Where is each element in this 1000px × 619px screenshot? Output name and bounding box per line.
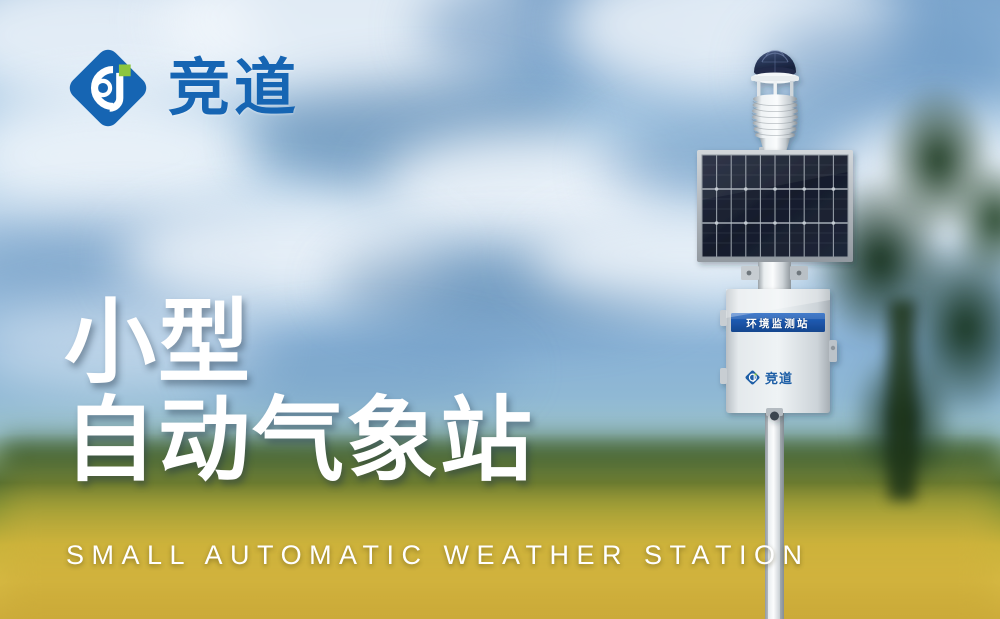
hero-title: 小型 自动气象站 — [64, 296, 534, 488]
jingdao-diamond-logo-icon — [744, 369, 761, 386]
jingdao-diamond-logo-icon — [66, 46, 150, 130]
brand-wordmark: 竞道 — [168, 57, 300, 119]
control-box-brand-wordmark: 竞道 — [765, 368, 793, 387]
background-tree-trunk — [889, 300, 915, 500]
brand-logo[interactable]: 竞道 — [66, 46, 300, 130]
control-box-brand-logo: 竞道 — [744, 368, 793, 387]
cloud-blob — [530, 205, 830, 305]
product-hero-banner: 环境监测站 竞道 竞道 小型 自动气象站 SMALL AUTOMATIC WEA — [0, 0, 1000, 619]
hero-subtitle: SMALL AUTOMATIC WEATHER STATION — [66, 540, 810, 571]
hero-title-line-1: 小型 — [64, 296, 534, 390]
control-box-banner-label: 环境监测站 — [733, 315, 823, 332]
hero-title-line-2: 自动气象站 — [64, 394, 534, 488]
